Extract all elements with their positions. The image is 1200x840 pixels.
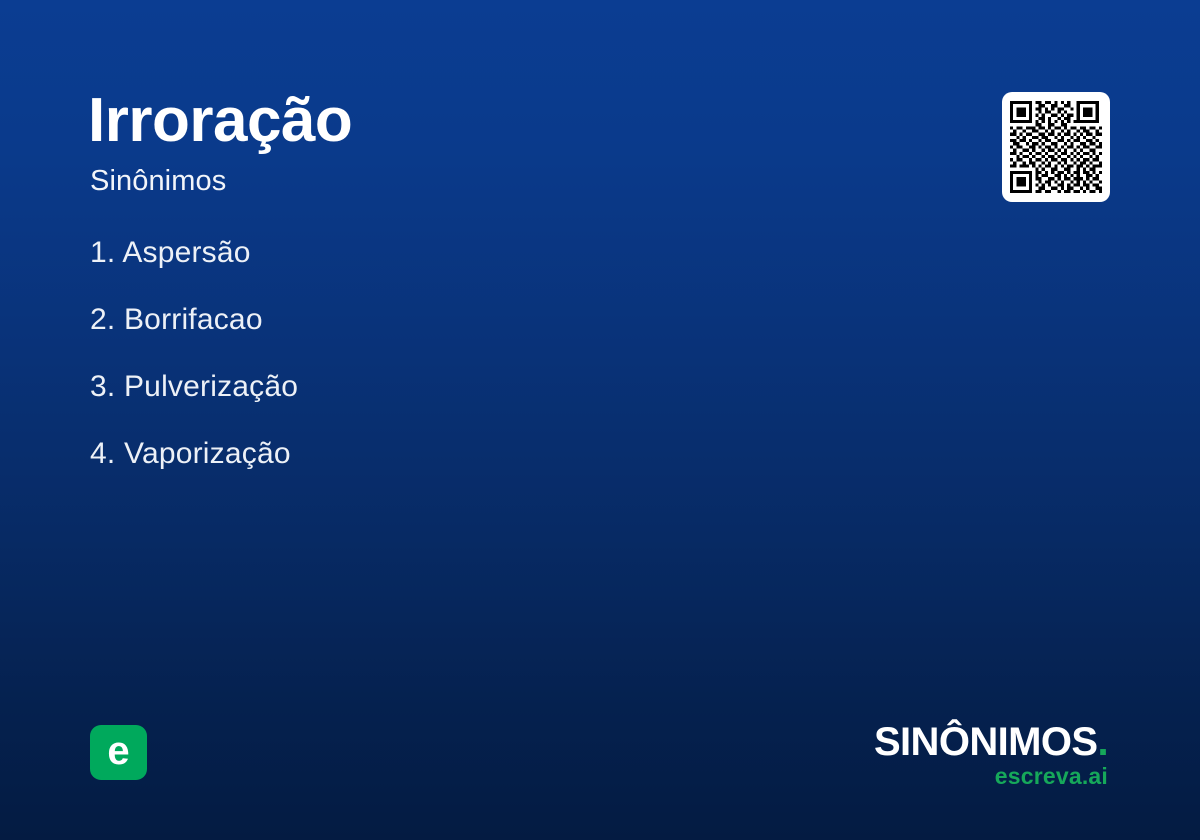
page-subtitle: Sinônimos xyxy=(90,166,226,198)
page-title: Irroração xyxy=(88,88,352,153)
list-item: 2. Borrifacao xyxy=(90,305,790,335)
list-item-index: 3. xyxy=(90,370,115,403)
brand-lockup: SINÔNIMOS. escreva.ai xyxy=(868,722,1108,788)
list-item-index: 2. xyxy=(90,303,115,336)
list-item-index: 1. xyxy=(90,236,115,269)
list-item-label: Aspersão xyxy=(122,236,250,269)
brand-tagline: escreva.ai xyxy=(868,765,1108,788)
brand-accent-dot: . xyxy=(1097,720,1108,764)
qr-code-icon[interactable] xyxy=(1002,92,1110,202)
brand-name-text: SINÔNIMOS xyxy=(874,720,1098,764)
synonym-list: 1. Aspersão 2. Borrifacao 3. Pulverizaçã… xyxy=(90,238,790,506)
escreva-app-icon[interactable]: e xyxy=(90,725,147,780)
list-item-index: 4. xyxy=(90,437,115,470)
brand-name: SINÔNIMOS. xyxy=(868,722,1108,762)
list-item-label: Pulverização xyxy=(124,370,298,403)
app-badge-letter: e xyxy=(107,731,129,771)
qr-code-matrix xyxy=(1010,100,1102,194)
synonym-card: Irroração Sinônimos 1. Aspersão 2. Borri… xyxy=(0,0,1200,840)
list-item: 3. Pulverização xyxy=(90,372,790,402)
list-item-label: Borrifacao xyxy=(124,303,263,336)
list-item: 4. Vaporização xyxy=(90,439,790,469)
list-item-label: Vaporização xyxy=(124,437,291,470)
list-item: 1. Aspersão xyxy=(90,238,790,268)
